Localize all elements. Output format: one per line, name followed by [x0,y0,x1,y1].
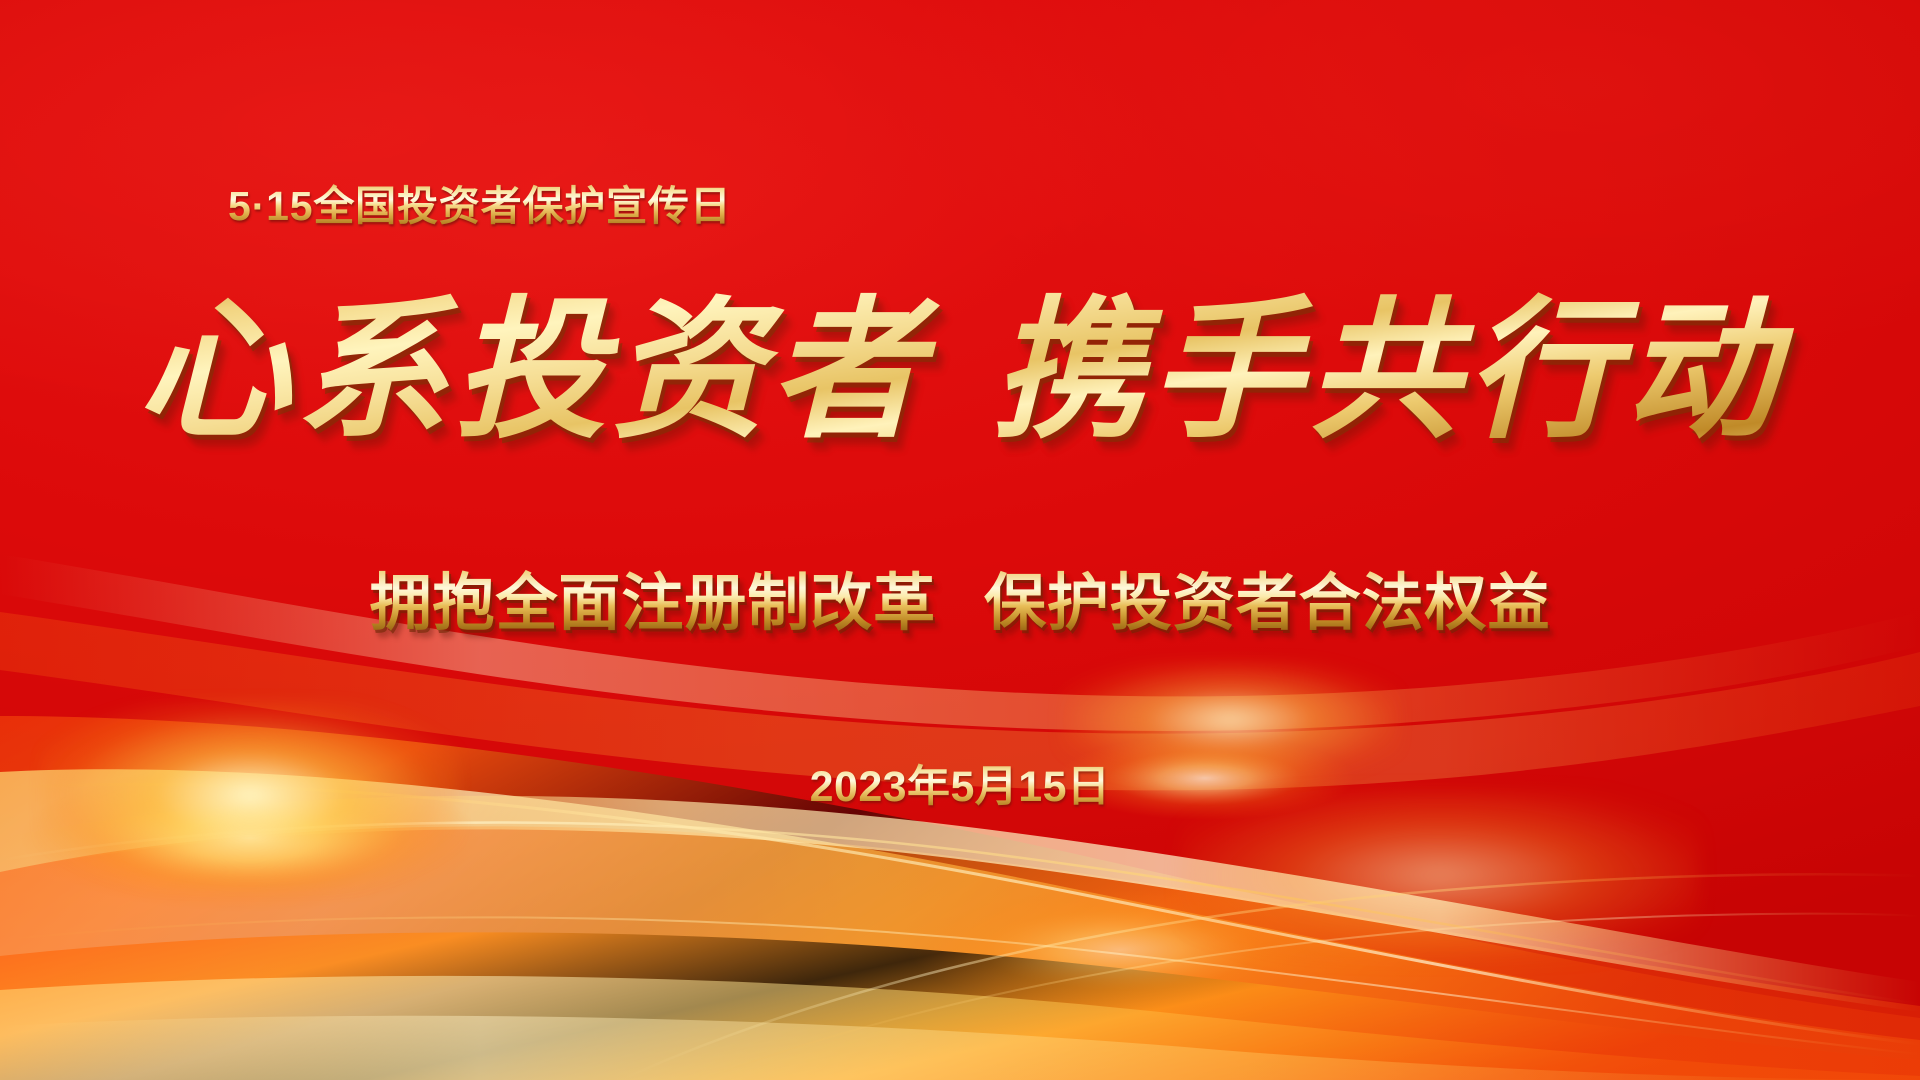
main-slogan: 心系投资者携手共行动 [0,288,1920,452]
main-slogan-part-2: 携手共行动 [992,280,1782,459]
sub-slogan: 拥抱全面注册制改革保护投资者合法权益 [0,552,1920,642]
main-slogan-part-1: 心系投资者 [138,280,928,459]
sub-slogan-part-1: 拥抱全面注册制改革 [370,569,936,638]
poster-content: 5·15全国投资者保护宣传日 心系投资者携手共行动 拥抱全面注册制改革保护投资者… [0,0,1920,1080]
investor-protection-poster: 5·15全国投资者保护宣传日 心系投资者携手共行动 拥抱全面注册制改革保护投资者… [0,0,1920,1080]
sub-slogan-part-2: 保护投资者合法权益 [984,569,1550,638]
event-eyebrow-label: 5·15全国投资者保护宣传日 [228,172,732,232]
event-date: 2023年5月15日 [0,752,1920,814]
